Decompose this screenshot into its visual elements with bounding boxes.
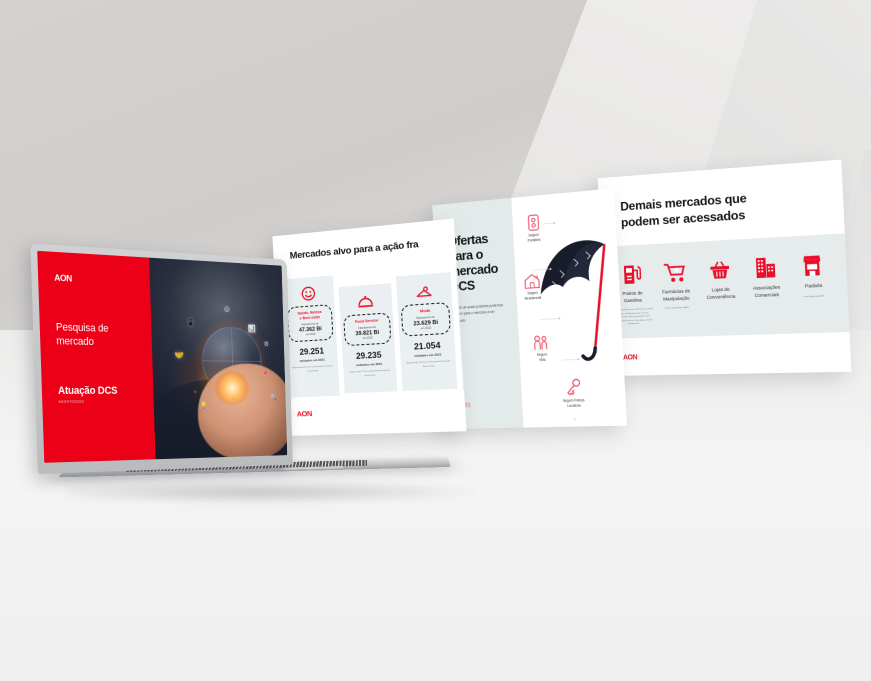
- device-icon: 📱: [187, 319, 194, 326]
- market-note: [746, 304, 790, 306]
- slide-demais-mercados[interactable]: Demais mercados que podem ser acessados …: [598, 160, 852, 376]
- scene-root: Demais mercados que podem ser acessados …: [0, 0, 871, 681]
- slide4-title: Demais mercados que podem ser acessados: [620, 183, 844, 231]
- market-item[interactable]: Associações Comerciais: [743, 250, 790, 335]
- market-label: Padaria: [791, 282, 836, 291]
- slide3-diagram: Seguro Portáteis Seguro Residencial Segu…: [511, 188, 627, 427]
- title-slide-heading: Pesquisa de mercado: [56, 321, 152, 350]
- offer-node[interactable]: Seguro Fiança Locatícia: [548, 378, 600, 409]
- key-icon: [565, 378, 582, 396]
- network-icon: ⚙: [264, 341, 269, 347]
- offer-node[interactable]: Seguro Portáteis: [514, 213, 552, 244]
- house-icon: [523, 273, 540, 290]
- offer-node[interactable]: Seguro Residencial: [511, 272, 553, 302]
- title-slide-photo: 🤝 📱 ◎ 📊 ⚙ 📍 🔍 💡: [149, 258, 287, 460]
- market-label: Farmácias de Manipulação: [655, 288, 697, 304]
- page-number: 5: [574, 418, 576, 421]
- aon-logo: AON: [623, 354, 637, 361]
- lightbulb-icon: 💡: [200, 403, 207, 410]
- title-slide-date: AGOSTO/2023: [58, 399, 153, 403]
- offer-label: Seguro Vida: [524, 352, 561, 363]
- basket-icon: [698, 252, 742, 281]
- market-item[interactable]: Lojas de Conveniência: [698, 252, 744, 335]
- pharmacy-cart-icon: [654, 255, 697, 284]
- offer-label: Seguro Fiança Locatícia: [549, 398, 600, 409]
- aon-logo: AON: [54, 273, 72, 284]
- slide4-icon-row: Postos de Gasolina Dados atualizados com…: [601, 233, 850, 339]
- trackpad[interactable]: [282, 466, 344, 470]
- market-item[interactable]: Padaria www.abip.org.br/abt: [790, 248, 839, 334]
- bakery-icon: [790, 248, 836, 278]
- buildings-icon: [743, 250, 788, 279]
- title-slide-left: AON Pesquisa de mercado Atuação DCS AGOS…: [37, 251, 155, 463]
- phone-icon: [527, 214, 539, 231]
- family-icon: [532, 335, 551, 351]
- laptop-mockup: AON Pesquisa de mercado Atuação DCS AGOS…: [30, 244, 460, 512]
- market-label: Associações Comerciais: [745, 284, 789, 300]
- bar-chart-icon: 📊: [248, 325, 256, 332]
- market-label: Lojas de Conveniência: [699, 286, 742, 302]
- search-icon: 🔍: [270, 395, 277, 401]
- market-note: Dados atualizados org/84: [656, 307, 698, 312]
- pin-icon: 📍: [262, 372, 269, 378]
- laptop-lid: AON Pesquisa de mercado Atuação DCS AGOS…: [30, 243, 293, 474]
- market-note: [700, 305, 742, 307]
- market-note: www.abip.org.br/abt: [792, 294, 837, 299]
- laptop-screen[interactable]: AON Pesquisa de mercado Atuação DCS AGOS…: [37, 251, 287, 463]
- laptop-lid-wrapper: AON Pesquisa de mercado Atuação DCS AGOS…: [30, 243, 293, 474]
- offer-node[interactable]: Seguro Vida: [523, 334, 561, 363]
- laptop-shadow: [66, 480, 478, 504]
- target-icon: ◎: [224, 305, 230, 313]
- handshake-icon: 🤝: [174, 351, 184, 360]
- title-slide-subheading: Atuação DCS: [58, 385, 154, 397]
- market-item[interactable]: Farmácias de Manipulação Dados atualizad…: [654, 255, 699, 337]
